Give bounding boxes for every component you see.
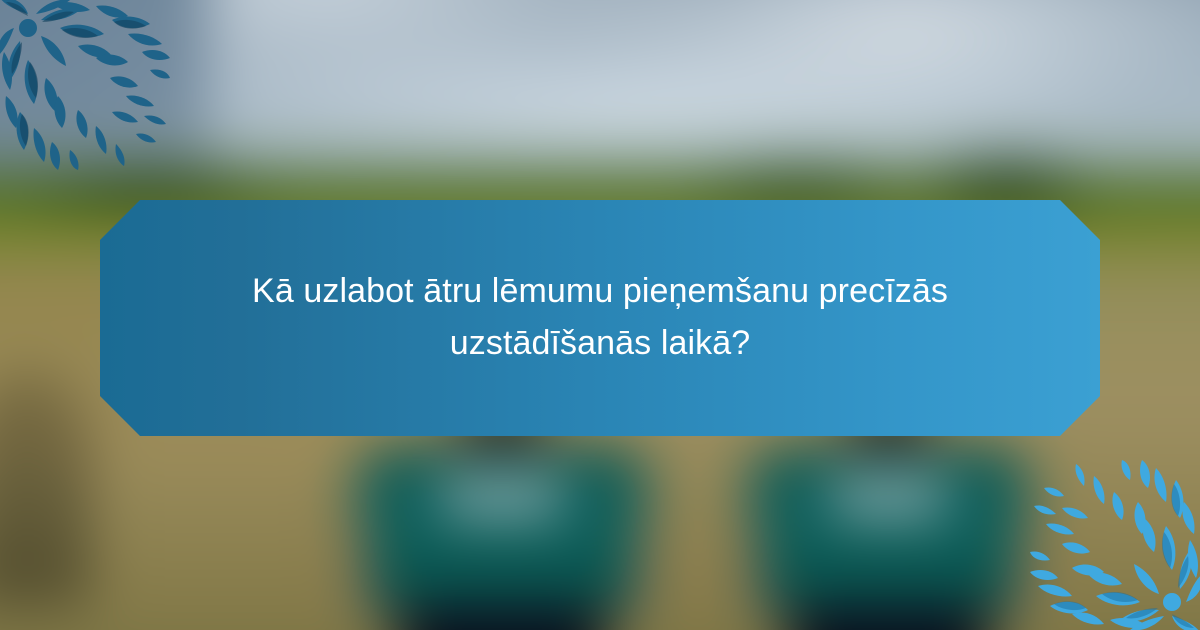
- page-title: Kā uzlabot ātru lēmumu pieņemšanu precīz…: [200, 266, 1000, 369]
- person-legs: [399, 608, 604, 630]
- floral-damask-corner-ornament-icon: [0, 0, 170, 170]
- person-bib: [442, 471, 561, 520]
- field-shadow-blob: [0, 373, 91, 606]
- social-share-card: Kā uzlabot ātru lēmumu pieņemšanu precīz…: [0, 0, 1200, 630]
- headline-banner: Kā uzlabot ātru lēmumu pieņemšanu precīz…: [100, 200, 1100, 436]
- person-legs: [790, 608, 987, 630]
- floral-damask-corner-ornament-icon: [1030, 460, 1200, 630]
- person-bib: [832, 471, 946, 520]
